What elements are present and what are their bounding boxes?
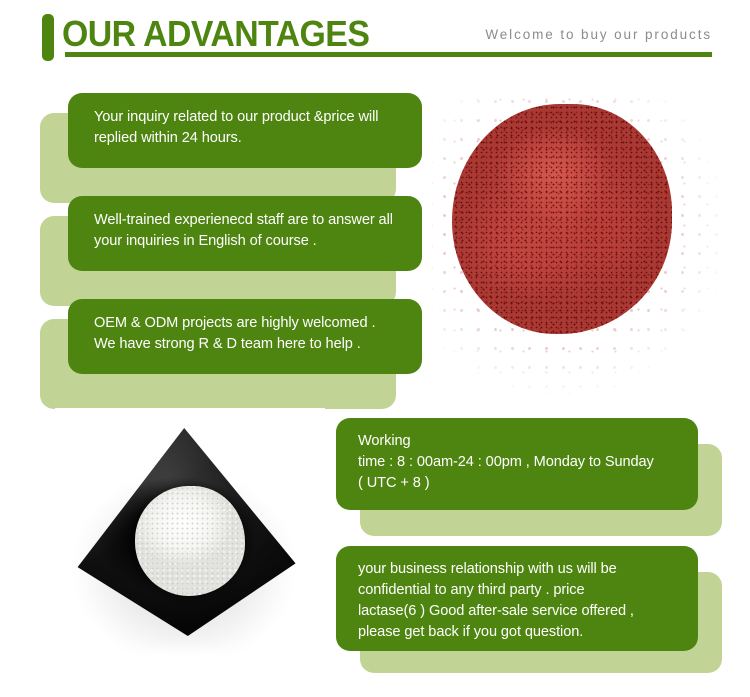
title-accent-bar: [42, 14, 54, 61]
advantage-text: Working time : 8 : 00am-24 : 00pm , Mond…: [358, 431, 698, 494]
title-underline: [65, 52, 712, 57]
advantage-card-oem-odm: OEM & ODM projects are highly welcomed .…: [40, 299, 422, 409]
white-powder-product-image: [55, 408, 325, 673]
advantage-card-inquiry-response: Your inquiry related to our product &pri…: [40, 93, 422, 203]
card-body: OEM & ODM projects are highly welcomed .…: [68, 299, 422, 374]
advantage-text: Your inquiry related to our product &pri…: [94, 107, 422, 149]
advantage-text: OEM & ODM projects are highly welcomed .…: [94, 313, 422, 355]
red-powder-scatter-specks: [432, 86, 722, 396]
advantage-card-confidentiality: your business relationship with us will …: [336, 546, 722, 673]
page-header: OUR ADVANTAGES Welcome to buy our produc…: [0, 0, 750, 78]
card-body: Your inquiry related to our product &pri…: [68, 93, 422, 168]
page-title: OUR ADVANTAGES: [62, 10, 369, 58]
advantage-text: Well-trained experienecd staff are to an…: [94, 210, 422, 252]
advantage-card-trained-staff: Well-trained experienecd staff are to an…: [40, 196, 422, 306]
red-powder-product-image: [432, 86, 722, 396]
card-body: Working time : 8 : 00am-24 : 00pm , Mond…: [336, 418, 698, 510]
white-powder-texture: [135, 486, 245, 596]
card-body: Well-trained experienecd staff are to an…: [68, 196, 422, 271]
header-tagline: Welcome to buy our products: [485, 27, 712, 42]
advantage-card-working-time: Working time : 8 : 00am-24 : 00pm , Mond…: [336, 418, 722, 538]
advantage-text: your business relationship with us will …: [358, 559, 698, 643]
card-body: your business relationship with us will …: [336, 546, 698, 651]
